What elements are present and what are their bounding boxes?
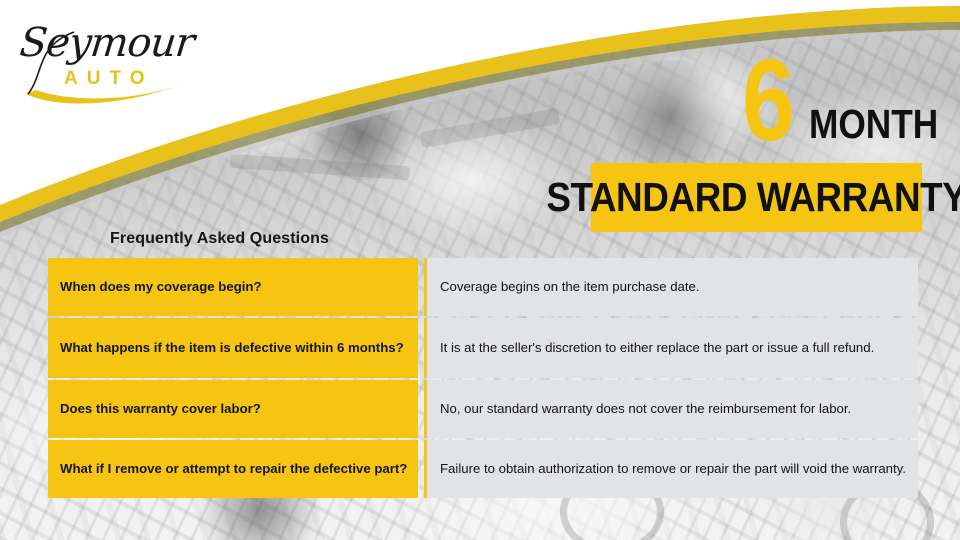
faq-heading: Frequently Asked Questions [110,230,329,248]
table-row: What if I remove or attempt to repair th… [48,440,918,498]
standard-warranty-banner: STANDARD WARRANTY [591,163,922,232]
warranty-duration-unit: MONTH [809,104,938,145]
seymour-auto-logo: Seymour AUTO [14,16,194,106]
faq-question-cell: What if I remove or attempt to repair th… [48,440,418,498]
faq-answer-cell: Failure to obtain authorization to remov… [424,440,918,498]
table-row: When does my coverage begin? Coverage be… [48,258,918,316]
standard-warranty-banner-text: STANDARD WARRANTY [546,174,960,221]
warranty-duration-number: 6 [742,42,793,158]
faq-question-cell: What happens if the item is defective wi… [48,318,418,378]
table-row: What happens if the item is defective wi… [48,318,918,378]
faq-question-cell: When does my coverage begin? [48,258,418,316]
warranty-slide: Seymour AUTO 6 MONTH STANDARD WARRANTY F… [0,0,960,540]
logo-wordmark: Seymour [18,20,196,66]
faq-answer-cell: Coverage begins on the item purchase dat… [424,258,918,316]
faq-question-cell: Does this warranty cover labor? [48,380,418,438]
faq-table: When does my coverage begin? Coverage be… [48,258,918,500]
logo-subtitle: AUTO [64,68,153,90]
faq-answer-cell: It is at the seller's discretion to eith… [424,318,918,378]
table-row: Does this warranty cover labor? No, our … [48,380,918,438]
faq-answer-cell: No, our standard warranty does not cover… [424,380,918,438]
